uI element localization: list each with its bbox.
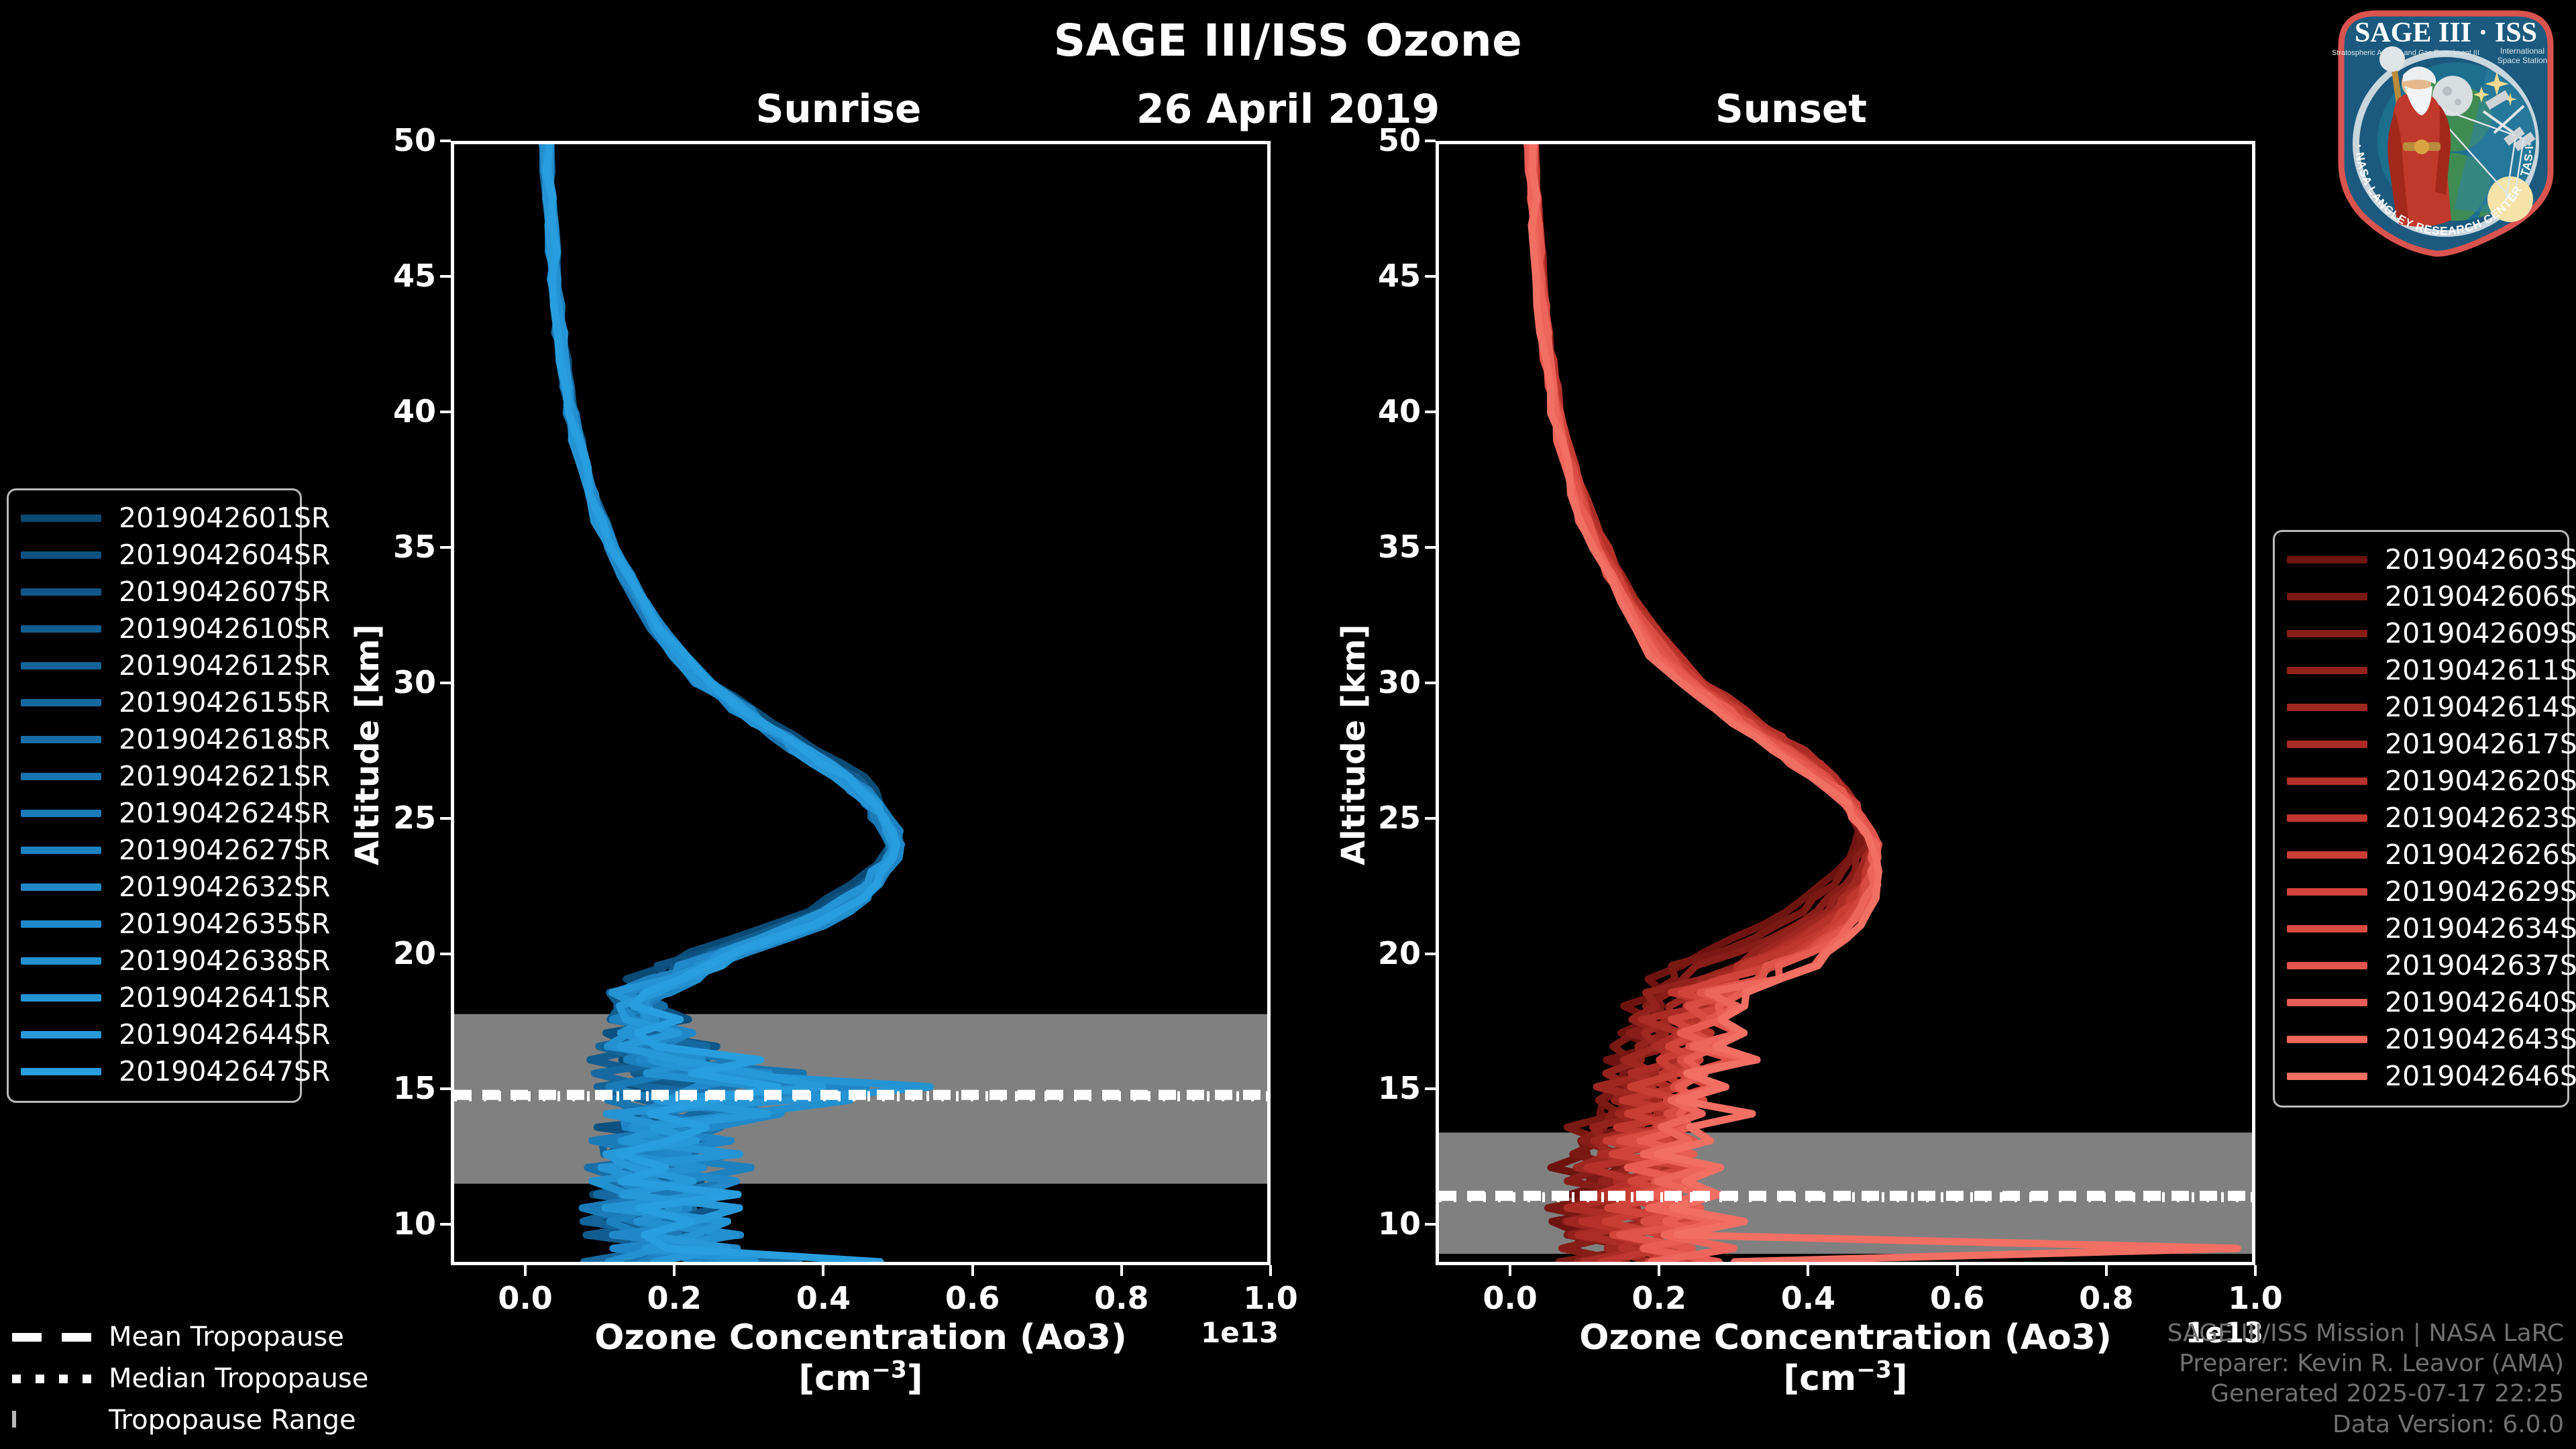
- legend-color-swatch: [2287, 556, 2367, 563]
- sunrise-y-tick-label: 35: [335, 531, 436, 562]
- sunset-x-tick-label: 0.6: [1890, 1283, 2025, 1313]
- sunrise-y-tick-label: 20: [335, 938, 436, 969]
- legend-item[interactable]: 2019042609SS: [2287, 615, 2555, 652]
- credits-block: SAGE III/ISS Mission | NASA LaRC Prepare…: [2167, 1318, 2564, 1440]
- legend-item-label: 2019042624SR: [119, 800, 330, 827]
- legend-item[interactable]: 2019042615SR: [21, 684, 288, 721]
- legend-item[interactable]: 2019042635SR: [21, 906, 288, 943]
- sunrise-x-tick-label: 0.8: [1055, 1283, 1189, 1313]
- sunrise-y-tick-mark: [440, 140, 451, 142]
- sunset-x-tick-label: 0.4: [1741, 1283, 1875, 1313]
- legend-color-swatch: [2287, 999, 2367, 1006]
- legend-item-label: 2019042643SS: [2385, 1026, 2576, 1053]
- sunset-y-tick-mark: [1425, 1223, 1436, 1226]
- sunrise-x-tick-mark: [524, 1265, 527, 1276]
- filled-box-icon: [12, 1413, 91, 1428]
- legend-color-swatch: [21, 662, 101, 669]
- legend-item[interactable]: 2019042612SR: [21, 647, 288, 684]
- sunrise-y-tick-mark: [440, 682, 451, 684]
- legend-item-label: 2019042647SR: [119, 1058, 330, 1085]
- sunset-x-tick-mark: [1956, 1265, 1959, 1276]
- tropopause-mean-key: Mean Tropopause: [12, 1316, 361, 1358]
- legend-item[interactable]: 2019042638SR: [21, 943, 288, 979]
- legend-item-label: 2019042612SR: [119, 652, 330, 680]
- legend-color-swatch: [2287, 925, 2367, 932]
- legend-item[interactable]: 2019042644SR: [21, 1016, 288, 1053]
- legend-color-swatch: [21, 625, 101, 633]
- legend-color-swatch: [2287, 851, 2367, 859]
- sunset-y-tick-label: 45: [1320, 260, 1421, 291]
- legend-item-label: 2019042632SR: [119, 873, 330, 901]
- legend-item[interactable]: 2019042637SS: [2287, 947, 2555, 984]
- sunset-x-tick-mark: [2105, 1265, 2108, 1276]
- tropopause-range-key: Tropopause Range: [12, 1399, 361, 1441]
- legend-item-label: 2019042601SR: [119, 504, 330, 532]
- sunset-y-tick-mark: [1425, 953, 1436, 955]
- tropopause-legend: Mean Tropopause Median Tropopause Tropop…: [12, 1316, 361, 1441]
- legend-color-swatch: [2287, 814, 2367, 822]
- legend-color-swatch: [21, 810, 101, 817]
- legend-item[interactable]: 2019042618SR: [21, 721, 288, 758]
- legend-item-label: 2019042621SR: [119, 763, 330, 790]
- legend-color-swatch: [2287, 1073, 2367, 1080]
- legend-item[interactable]: 2019042623SS: [2287, 800, 2555, 837]
- legend-color-swatch: [2287, 962, 2367, 969]
- legend-item[interactable]: 2019042603SS: [2287, 541, 2555, 578]
- sunset-y-tick-label: 20: [1320, 938, 1421, 969]
- sunrise-panel-title: Sunrise: [604, 86, 1073, 131]
- sunrise-y-tick-mark: [440, 1223, 451, 1226]
- sunrise-x-tick-label: 0.6: [906, 1283, 1040, 1313]
- sunset-y-tick-label: 50: [1320, 125, 1421, 156]
- sunrise-y-tick-mark: [440, 411, 451, 413]
- dashed-line-icon: [12, 1330, 91, 1344]
- sunrise-x-exponent: 1e13: [1201, 1316, 1279, 1349]
- tropopause-median-key: Median Tropopause: [12, 1358, 361, 1399]
- legend-color-swatch: [21, 699, 101, 706]
- sunset-y-tick-label: 40: [1320, 396, 1421, 427]
- sunrise-x-axis-units: [cm−3]: [798, 1358, 922, 1399]
- tropopause-median-label: Median Tropopause: [109, 1365, 368, 1392]
- sunset-y-tick-label: 35: [1320, 531, 1421, 562]
- sunrise-y-tick-mark: [440, 953, 451, 955]
- legend-item-label: 2019042606SS: [2385, 583, 2576, 610]
- sunrise-y-axis-label: Altitude [km]: [349, 624, 386, 865]
- legend-item[interactable]: 2019042629SS: [2287, 873, 2555, 910]
- logo-subtitle-right-line2: Space Station: [2498, 56, 2548, 65]
- legend-color-swatch: [2287, 667, 2367, 674]
- legend-item[interactable]: 2019042634SS: [2287, 910, 2555, 947]
- legend-item[interactable]: 2019042617SS: [2287, 726, 2555, 763]
- sunrise-x-tick-label: 0.0: [458, 1283, 592, 1313]
- legend-item-label: 2019042638SR: [119, 947, 330, 975]
- sunrise-y-tick-label: 40: [335, 396, 436, 427]
- sunset-x-tick-mark: [1807, 1265, 1809, 1276]
- sunset-x-axis-label-line1: Ozone Concentration (Ao3): [1579, 1318, 2111, 1358]
- sunrise-x-tick-mark: [1120, 1265, 1123, 1276]
- sunset-x-tick-mark: [2254, 1265, 2257, 1276]
- sunset-x-axis-units: [cm−3]: [1783, 1358, 1907, 1399]
- sunrise-x-axis-label-line1: Ozone Concentration (Ao3): [594, 1318, 1126, 1358]
- legend-item-label: 2019042607SR: [119, 578, 330, 606]
- credits-line-preparer: Preparer: Kevin R. Leavor (AMA): [2167, 1348, 2564, 1379]
- legend-color-swatch: [21, 957, 101, 965]
- sunrise-y-tick-label: 10: [335, 1208, 436, 1239]
- legend-item[interactable]: 2019042610SR: [21, 610, 288, 647]
- sunrise-y-tick-mark: [440, 275, 451, 278]
- legend-item[interactable]: 2019042647SR: [21, 1053, 288, 1090]
- sunset-y-axis-label: Altitude [km]: [1335, 624, 1373, 865]
- sunset-y-tick-mark: [1425, 1087, 1436, 1090]
- legend-item[interactable]: 2019042601SR: [21, 500, 288, 537]
- sunset-legend[interactable]: 2019042603SS2019042606SS2019042609SS2019…: [2273, 530, 2569, 1108]
- sunrise-x-tick-mark: [971, 1265, 974, 1276]
- legend-item-label: 2019042614SS: [2385, 694, 2576, 721]
- credits-line-mission: SAGE III/ISS Mission | NASA LaRC: [2167, 1318, 2564, 1348]
- sunset-y-tick-mark: [1425, 140, 1436, 142]
- sunset-panel-title: Sunset: [1556, 86, 2026, 131]
- legend-color-swatch: [2287, 630, 2367, 637]
- page-title: SAGE III/ISS Ozone: [0, 15, 2576, 66]
- sunset-x-tick-mark: [1658, 1265, 1660, 1276]
- credits-line-generated: Generated 2025-07-17 22:25: [2167, 1379, 2564, 1409]
- sunset-x-tick-mark: [1509, 1265, 1511, 1276]
- legend-item-label: 2019042637SS: [2385, 952, 2576, 979]
- sage-iii-iss-mission-patch-logo: SAGE III · ISS Stratospheric Aerosol and…: [2314, 4, 2569, 259]
- sunset-y-tick-label: 10: [1320, 1208, 1421, 1239]
- tropopause-range-label: Tropopause Range: [109, 1407, 356, 1434]
- credits-line-version: Data Version: 6.0.0: [2167, 1409, 2564, 1440]
- legend-item[interactable]: 2019042624SR: [21, 795, 288, 832]
- sunset-y-tick-mark: [1425, 411, 1436, 413]
- legend-item[interactable]: 2019042632SR: [21, 869, 288, 906]
- legend-item-label: 2019042629SS: [2385, 878, 2576, 906]
- legend-item-label: 2019042611SS: [2385, 657, 2576, 684]
- sunset-y-tick-mark: [1425, 546, 1436, 549]
- sunrise-y-tick-label: 15: [335, 1073, 436, 1104]
- sunset-y-tick-label: 15: [1320, 1073, 1421, 1104]
- sunset-y-tick-mark: [1425, 275, 1436, 278]
- legend-item-label: 2019042641SR: [119, 984, 330, 1012]
- legend-item[interactable]: 2019042614SS: [2287, 689, 2555, 726]
- mission-patch-svg: SAGE III · ISS Stratospheric Aerosol and…: [2314, 4, 2569, 259]
- dotted-line-icon: [12, 1371, 91, 1386]
- logo-subtitle-left: Stratospheric Aerosol and Gas Experiment…: [2332, 49, 2479, 57]
- sunrise-x-tick-mark: [822, 1265, 824, 1276]
- legend-color-swatch: [2287, 888, 2367, 896]
- sunrise-profile-chart: [454, 144, 1267, 1262]
- legend-item[interactable]: 2019042641SR: [21, 979, 288, 1016]
- legend-item[interactable]: 2019042646SS: [2287, 1058, 2555, 1095]
- legend-item-label: 2019042609SS: [2385, 620, 2576, 647]
- sunset-y-tick-mark: [1425, 817, 1436, 820]
- legend-color-swatch: [21, 847, 101, 854]
- legend-color-swatch: [2287, 704, 2367, 711]
- legend-color-swatch: [21, 920, 101, 928]
- legend-color-swatch: [21, 1068, 101, 1075]
- sunset-y-tick-mark: [1425, 682, 1436, 684]
- sunrise-x-axis-label: Ozone Concentration (Ao3) [cm−3]: [451, 1318, 1271, 1398]
- legend-item[interactable]: 2019042621SR: [21, 758, 288, 795]
- legend-item[interactable]: 2019042620SS: [2287, 763, 2555, 800]
- legend-color-swatch: [21, 994, 101, 1002]
- legend-color-swatch: [21, 1031, 101, 1038]
- sunset-profile-chart: [1439, 144, 2252, 1262]
- legend-item[interactable]: 2019042604SR: [21, 537, 288, 574]
- legend-item-label: 2019042615SR: [119, 689, 330, 716]
- legend-item-label: 2019042644SR: [119, 1021, 330, 1049]
- legend-item[interactable]: 2019042643SS: [2287, 1021, 2555, 1058]
- legend-color-swatch: [21, 515, 101, 522]
- sunset-x-tick-label: 1.0: [2188, 1283, 2322, 1313]
- legend-item[interactable]: 2019042627SR: [21, 832, 288, 869]
- legend-item-label: 2019042623SS: [2385, 804, 2576, 832]
- legend-item-label: 2019042627SR: [119, 837, 330, 864]
- sunrise-x-tick-mark: [673, 1265, 676, 1276]
- legend-item-label: 2019042617SS: [2385, 731, 2576, 758]
- legend-item-label: 2019042634SS: [2385, 915, 2576, 943]
- legend-item-label: 2019042646SS: [2385, 1063, 2576, 1090]
- logo-title: SAGE III · ISS: [2355, 17, 2537, 48]
- sunrise-x-tick-label: 0.2: [607, 1283, 741, 1313]
- legend-item-label: 2019042618SR: [119, 726, 330, 753]
- sunrise-y-tick-label: 45: [335, 260, 436, 291]
- sunset-plot-area: [1436, 141, 2255, 1265]
- legend-item-label: 2019042640SS: [2385, 989, 2576, 1016]
- logo-subtitle-right-line1: International: [2500, 46, 2544, 56]
- legend-color-swatch: [21, 736, 101, 743]
- legend-item-label: 2019042620SS: [2385, 767, 2576, 795]
- legend-color-swatch: [21, 773, 101, 780]
- sunset-x-tick-label: 0.8: [2039, 1283, 2173, 1313]
- legend-item-label: 2019042604SR: [119, 541, 330, 569]
- sunset-x-tick-label: 0.2: [1592, 1283, 1726, 1313]
- sunset-x-axis-label: Ozone Concentration (Ao3) [cm−3]: [1436, 1318, 2255, 1398]
- legend-item[interactable]: 2019042626SS: [2287, 837, 2555, 873]
- sunrise-x-tick-label: 0.4: [756, 1283, 890, 1313]
- legend-item[interactable]: 2019042607SR: [21, 574, 288, 610]
- legend-color-swatch: [2287, 593, 2367, 600]
- sunrise-y-tick-mark: [440, 817, 451, 820]
- legend-color-swatch: [21, 883, 101, 891]
- legend-item[interactable]: 2019042611SS: [2287, 652, 2555, 689]
- sunrise-y-tick-mark: [440, 1087, 451, 1090]
- legend-item-label: 2019042635SR: [119, 910, 330, 938]
- sunrise-x-tick-mark: [1269, 1265, 1272, 1276]
- sunrise-x-tick-label: 1.0: [1203, 1283, 1338, 1313]
- legend-item[interactable]: 2019042640SS: [2287, 984, 2555, 1021]
- legend-color-swatch: [2287, 777, 2367, 785]
- sunrise-plot-area: [451, 141, 1271, 1265]
- legend-item-label: 2019042603SS: [2385, 546, 2576, 574]
- legend-color-swatch: [2287, 741, 2367, 748]
- legend-color-swatch: [21, 588, 101, 596]
- sunset-x-tick-label: 0.0: [1443, 1283, 1577, 1313]
- legend-color-swatch: [21, 551, 101, 559]
- sunrise-y-tick-mark: [440, 546, 451, 549]
- tropopause-mean-label: Mean Tropopause: [109, 1324, 344, 1350]
- sunrise-legend[interactable]: 2019042601SR2019042604SR2019042607SR2019…: [7, 488, 302, 1103]
- sunrise-y-tick-label: 50: [335, 125, 436, 156]
- legend-item-label: 2019042626SS: [2385, 841, 2576, 869]
- legend-item-label: 2019042610SR: [119, 615, 330, 643]
- legend-color-swatch: [2287, 1036, 2367, 1043]
- legend-item[interactable]: 2019042606SS: [2287, 578, 2555, 615]
